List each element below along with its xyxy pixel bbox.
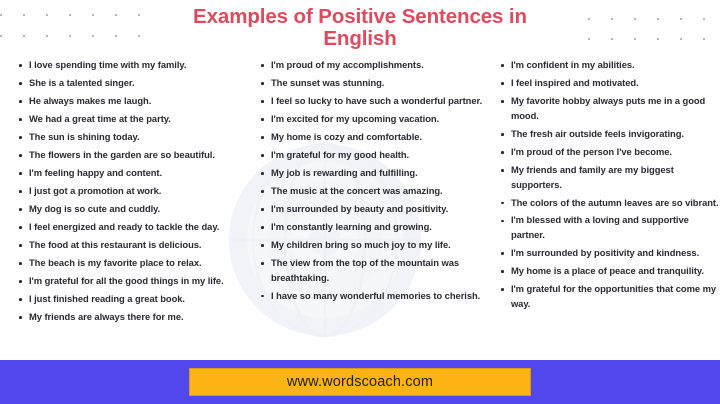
decorative-dot — [138, 35, 140, 37]
sentence-column-3: I'm confident in my abilities.I feel ins… — [492, 58, 720, 315]
sentence-item: I'm excited for my upcoming vacation. — [260, 112, 490, 127]
sentence-item: My home is cozy and comfortable. — [260, 130, 490, 145]
sentence-item: I feel energized and ready to tackle the… — [18, 220, 248, 235]
sentence-item: I just got a promotion at work. — [18, 184, 248, 199]
decorative-dot — [46, 14, 48, 16]
sentence-item: The food at this restaurant is delicious… — [18, 238, 248, 253]
decorative-dot — [23, 14, 25, 16]
decorative-dot — [703, 38, 705, 40]
sentence-item: The fresh air outside feels invigorating… — [500, 127, 720, 142]
sentence-list-3: I'm confident in my abilities.I feel ins… — [500, 58, 720, 312]
website-badge[interactable]: www.wordscoach.com — [189, 368, 531, 396]
sentence-item: The beach is my favorite place to relax. — [18, 256, 248, 271]
decorative-dot — [680, 38, 682, 40]
decorative-dot — [611, 18, 613, 20]
decorative-dot — [138, 14, 140, 16]
sentence-item: I'm confident in my abilities. — [500, 58, 720, 73]
sentence-item: My favorite hobby always puts me in a go… — [500, 94, 720, 124]
sentence-item: I feel so lucky to have such a wonderful… — [260, 94, 490, 109]
sentence-item: My friends and family are my biggest sup… — [500, 163, 720, 193]
sentence-item: The music at the concert was amazing. — [260, 184, 490, 199]
sentence-columns: I love spending time with my family.She … — [0, 58, 720, 358]
decorative-dot — [115, 35, 117, 37]
sentence-column-2: I'm proud of my accomplishments.The suns… — [252, 58, 492, 307]
sentence-item: I'm constantly learning and growing. — [260, 220, 490, 235]
sentence-item: The flowers in the garden are so beautif… — [18, 148, 248, 163]
decorative-dot — [23, 35, 25, 37]
sentence-item: The sunset was stunning. — [260, 76, 490, 91]
decorative-dot — [588, 18, 590, 20]
sentence-item: He always makes me laugh. — [18, 94, 248, 109]
sentence-item: I'm blessed with a loving and supportive… — [500, 213, 720, 243]
decorative-dot — [703, 18, 705, 20]
sentence-item: I'm surrounded by positivity and kindnes… — [500, 246, 720, 261]
decorative-dot — [0, 35, 2, 37]
sentence-item: We had a great time at the party. — [18, 112, 248, 127]
sentence-item: The colors of the autumn leaves are so v… — [500, 196, 720, 211]
sentence-item: My job is rewarding and fulfilling. — [260, 166, 490, 181]
decorative-dot — [611, 38, 613, 40]
dot-grid-left-decoration — [0, 8, 156, 48]
decorative-dot — [69, 35, 71, 37]
decorative-dot — [0, 14, 2, 16]
footer-bar: www.wordscoach.com — [0, 360, 720, 404]
sentence-item: The sun is shining today. — [18, 130, 248, 145]
sentence-item: The view from the top of the mountain wa… — [260, 256, 490, 286]
sentence-item: I feel inspired and motivated. — [500, 76, 720, 91]
sentence-item: My dog is so cute and cuddly. — [18, 202, 248, 217]
decorative-dot — [69, 14, 71, 16]
sentence-item: I'm proud of the person I've become. — [500, 145, 720, 160]
decorative-dot — [680, 18, 682, 20]
sentence-item: She is a talented singer. — [18, 76, 248, 91]
website-url: www.wordscoach.com — [287, 374, 433, 390]
decorative-dot — [92, 14, 94, 16]
sentence-item: I just finished reading a great book. — [18, 292, 248, 307]
decorative-dot — [92, 35, 94, 37]
sentence-item: I'm surrounded by beauty and positivity. — [260, 202, 490, 217]
sentence-item: I have so many wonderful memories to che… — [260, 289, 490, 304]
dot-grid-right-decoration — [586, 0, 720, 52]
sentence-list-2: I'm proud of my accomplishments.The suns… — [260, 58, 490, 303]
decorative-dot — [588, 38, 590, 40]
decorative-dot — [657, 38, 659, 40]
sentence-item: My home is a place of peace and tranquil… — [500, 264, 720, 279]
sentence-item: I'm grateful for my good health. — [260, 148, 490, 163]
sentence-item: I love spending time with my family. — [18, 58, 248, 73]
decorative-dot — [657, 18, 659, 20]
sentence-item: I'm grateful for the opportunities that … — [500, 282, 720, 312]
poster: Examples of Positive Sentences in Englis… — [0, 0, 720, 404]
decorative-dot — [634, 18, 636, 20]
page-title: Examples of Positive Sentences in Englis… — [170, 6, 550, 50]
sentence-list-1: I love spending time with my family.She … — [18, 58, 248, 325]
decorative-dot — [634, 38, 636, 40]
sentence-item: I'm grateful for all the good things in … — [18, 274, 248, 289]
sentence-item: I'm proud of my accomplishments. — [260, 58, 490, 73]
decorative-dot — [115, 14, 117, 16]
sentence-item: My children bring so much joy to my life… — [260, 238, 490, 253]
sentence-item: My friends are always there for me. — [18, 310, 248, 325]
decorative-dot — [46, 35, 48, 37]
sentence-column-1: I love spending time with my family.She … — [0, 58, 252, 328]
sentence-item: I'm feeling happy and content. — [18, 166, 248, 181]
